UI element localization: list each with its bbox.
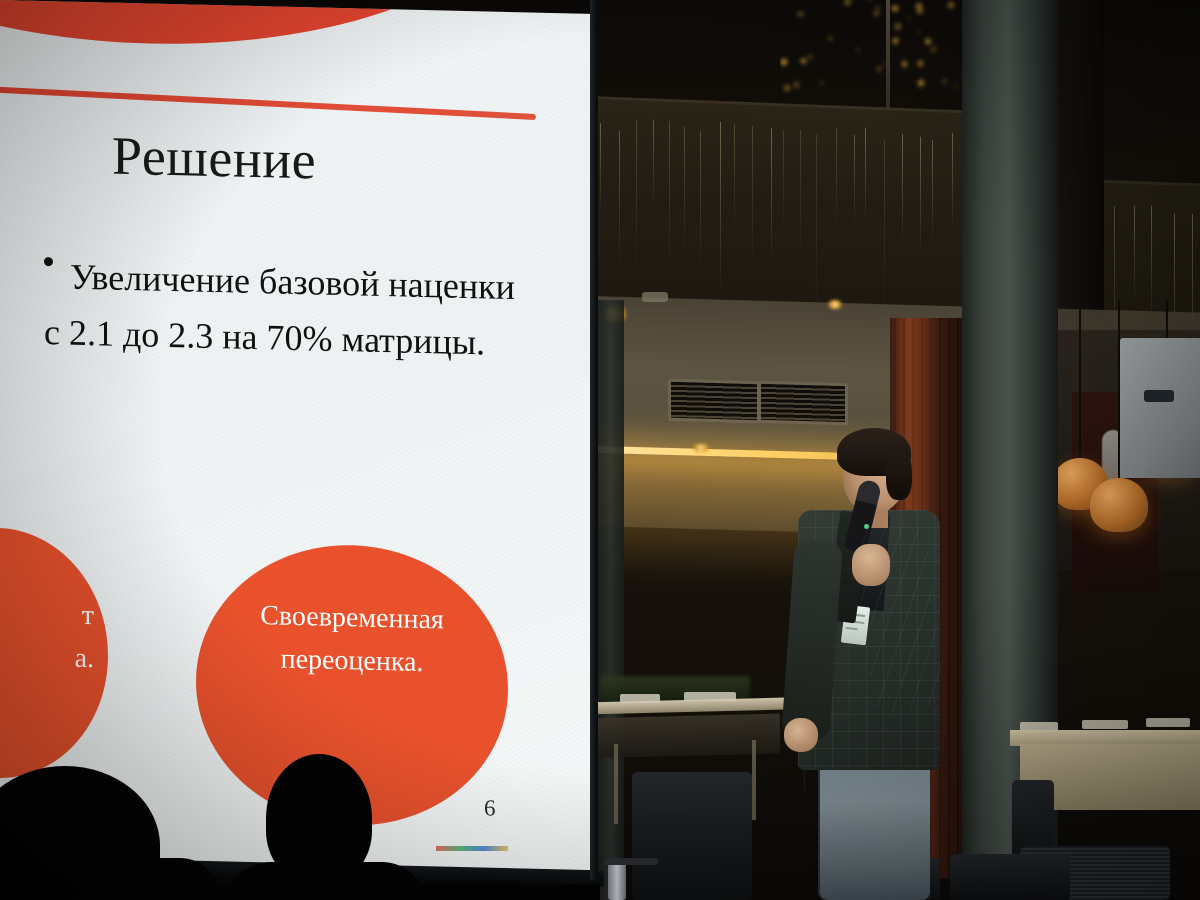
- projection-screen: Решение Увеличение базовой наценки с 2.1…: [0, 0, 596, 882]
- ellipse-right-line-2: переоценка.: [216, 636, 488, 686]
- slide-page-number: 6: [484, 795, 496, 821]
- left-hand: [784, 718, 818, 752]
- venue-background: [590, 0, 1200, 900]
- ellipse-left-fragment-2: а.: [0, 633, 94, 681]
- slide-ellipse-left-text: т а.: [0, 590, 94, 681]
- slide-title: Решение: [112, 125, 316, 192]
- slide-ellipse-right-text: Своевременная переоценка.: [216, 593, 488, 686]
- slide-bullet: Увеличение базовой наценки с 2.1 до 2.3 …: [44, 249, 564, 373]
- ellipse-left-fragment-1: т: [0, 590, 94, 638]
- screen-pixel-glint: [436, 846, 508, 851]
- right-hand: [852, 544, 890, 586]
- screen-right-edge: [590, 0, 598, 880]
- hair-side: [886, 452, 912, 500]
- presentation-photo: Решение Увеличение базовой наценки с 2.1…: [0, 0, 1200, 900]
- speaker-figure: [590, 0, 1200, 900]
- jeans: [820, 750, 930, 900]
- foreground-dark-band: [0, 884, 600, 900]
- bullet-dot: [44, 257, 53, 266]
- ellipse-right-line-1: Своевременная: [216, 593, 488, 643]
